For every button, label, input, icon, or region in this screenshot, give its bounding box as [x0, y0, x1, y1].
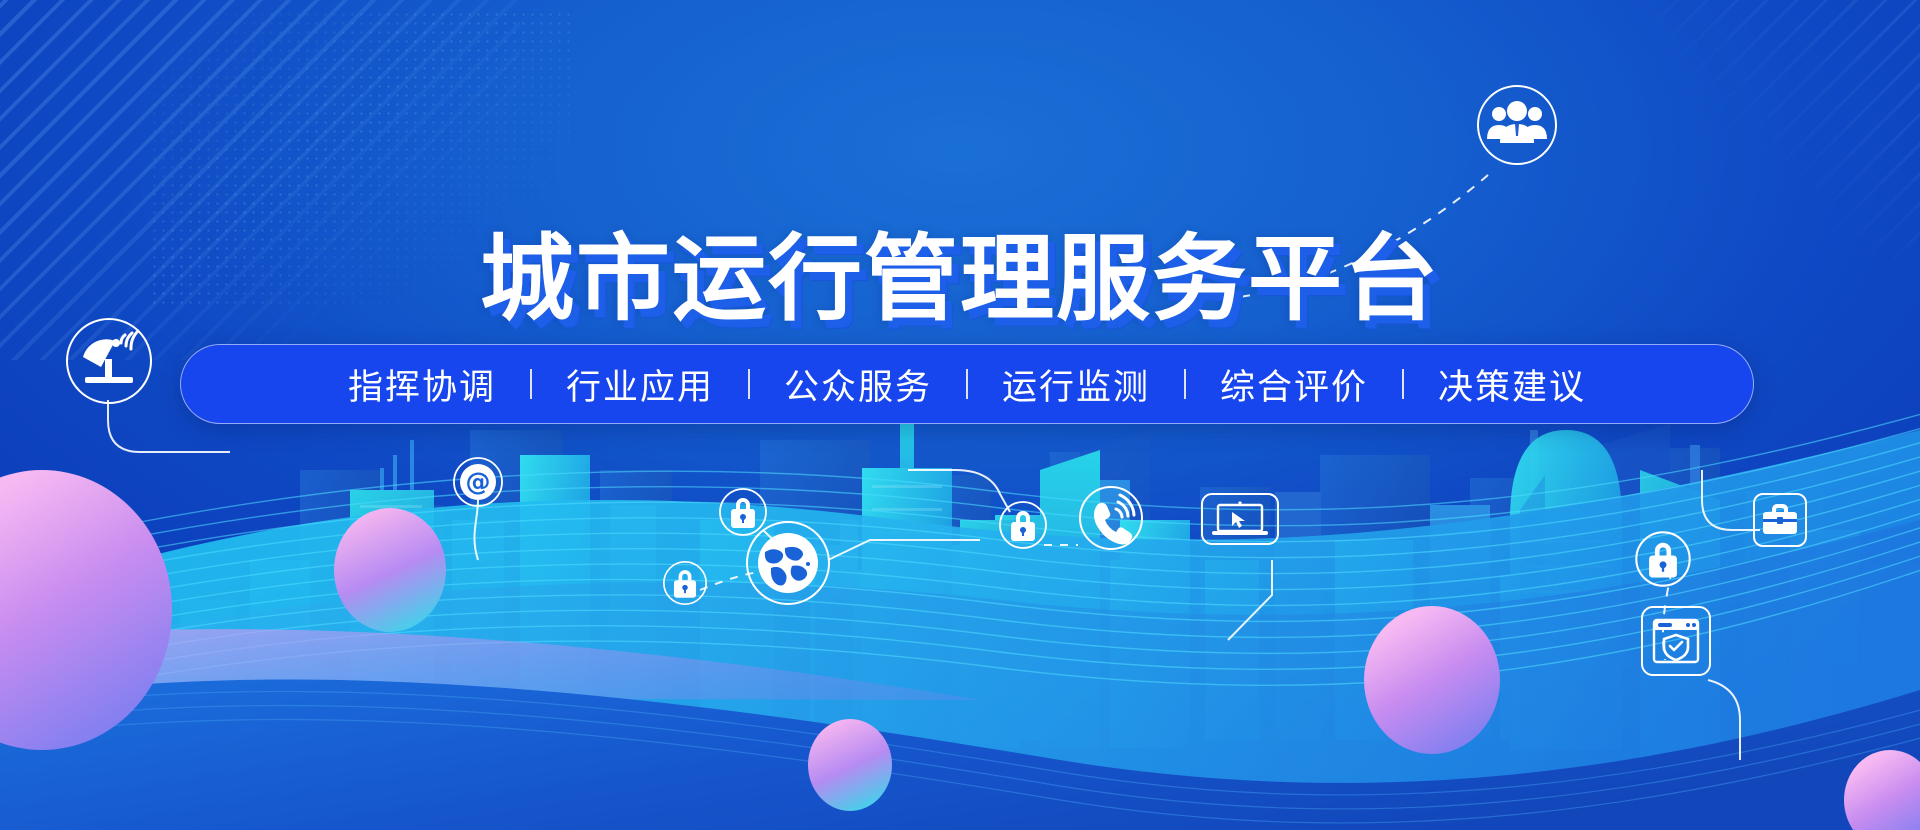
nav-item-public-service[interactable]: 公众服务 — [750, 359, 966, 410]
lock-icon-right[interactable] — [1634, 530, 1692, 588]
laptop-cursor-icon[interactable] — [1200, 492, 1280, 554]
lock-icon-lower-left[interactable] — [662, 560, 708, 606]
browser-shield-icon[interactable] — [1640, 605, 1712, 677]
city-operation-platform-banner: 城市运行管理服务平台 指挥协调 行业应用 公众服务 运行监测 综合评价 决策建议 — [0, 0, 1920, 830]
nav-item-command-coordination[interactable]: 指挥协调 — [314, 359, 530, 410]
phone-call-icon[interactable] — [1078, 485, 1144, 551]
globe-icon[interactable] — [745, 520, 831, 606]
at-sign-icon[interactable]: @ — [452, 456, 504, 508]
lock-icon-center[interactable] — [998, 500, 1048, 550]
nav-item-comprehensive-evaluation[interactable]: 综合评价 — [1186, 359, 1402, 410]
briefcase-icon[interactable] — [1752, 492, 1808, 548]
nav-item-operation-monitoring[interactable]: 运行监测 — [968, 359, 1184, 410]
main-navigation-bar: 指挥协调 行业应用 公众服务 运行监测 综合评价 决策建议 — [180, 344, 1754, 424]
page-title: 城市运行管理服务平台 — [480, 231, 1440, 330]
nav-item-industry-application[interactable]: 行业应用 — [532, 359, 748, 410]
group-people-icon[interactable] — [1475, 83, 1559, 167]
svg-text:@: @ — [466, 467, 491, 496]
nav-item-decision-advice[interactable]: 决策建议 — [1404, 359, 1620, 410]
